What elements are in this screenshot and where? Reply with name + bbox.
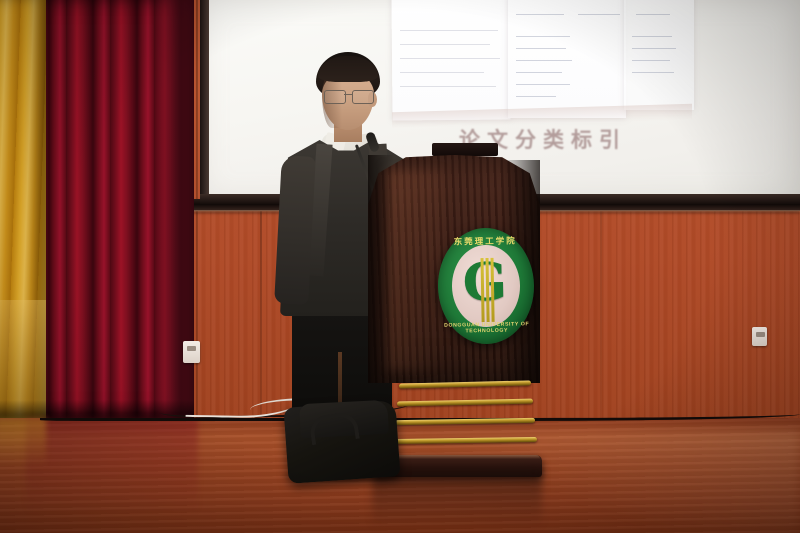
emblem-stroke: [491, 258, 495, 322]
projected-text-line: [632, 60, 670, 61]
projected-text-line: [400, 44, 490, 45]
wall-panel-seam: [600, 205, 602, 420]
projected-document-page: [624, 0, 694, 110]
projected-text-line: [400, 30, 498, 31]
wall-power-outlet[interactable]: [752, 327, 767, 346]
floor-reflection-gold-curtain: [0, 418, 46, 468]
projected-text-line: [516, 14, 564, 15]
wall-power-outlet[interactable]: [183, 341, 200, 363]
projected-document-page: [508, 0, 626, 118]
projected-text-line: [516, 96, 556, 97]
projected-text-line: [516, 36, 570, 37]
projected-text-line: [632, 48, 676, 49]
podium-left-shadow: [368, 155, 394, 383]
projected-text-line: [516, 48, 566, 49]
emblem-chinese-name: 东莞理工学院: [437, 234, 533, 252]
projection-screen-left-border: [200, 0, 209, 202]
podium-reading-ledge: [432, 143, 498, 156]
university-emblem: G 东莞理工学院 DONGGUAN UNIVERSITY OF TECHNOLO…: [437, 227, 535, 345]
projected-text-line: [516, 84, 570, 85]
eyeglasses-right-lens: [352, 90, 374, 104]
podium-wood-sheen: [386, 170, 444, 370]
floor-reflection-red-curtain: [26, 418, 198, 514]
outlet-socket-slot: [187, 346, 196, 351]
emblem-vertical-strokes: [481, 258, 498, 322]
projected-text-line: [636, 14, 670, 15]
projected-text-line: [632, 72, 674, 73]
emblem-english-name: DONGGUAN UNIVERSITY OF TECHNOLOGY: [439, 321, 535, 337]
projected-text-line: [632, 36, 672, 37]
auditorium-stage-photo: 论文分类标引: [0, 0, 800, 533]
projected-text-line: [516, 60, 572, 61]
projected-text-line: [578, 14, 620, 15]
eyeglasses-bridge: [344, 94, 352, 95]
podium-base-highlight: [378, 455, 540, 459]
eyeglasses-left-lens: [324, 90, 346, 104]
projected-text-line: [516, 72, 562, 73]
emblem-stroke: [481, 258, 485, 322]
emblem-stroke: [486, 258, 490, 322]
eyeglasses-icon: [324, 90, 374, 102]
outlet-socket-slot: [756, 332, 765, 337]
